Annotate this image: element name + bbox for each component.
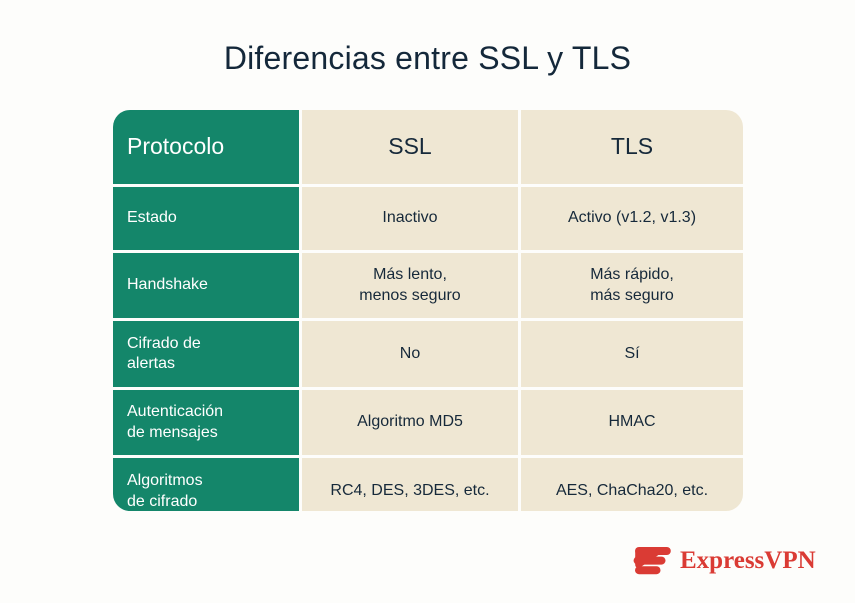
comparison-table: Protocolo SSL TLS Estado Inactivo Activo… (113, 110, 743, 511)
expressvpn-e-mark-icon (633, 545, 671, 577)
row-ssl-cell: RC4, DES, 3DES, etc. (302, 458, 518, 511)
row-tls-cell: Sí (521, 321, 743, 387)
row-tls-line1: Sí (624, 344, 639, 364)
row-ssl-line2: menos seguro (359, 286, 460, 306)
table-header-tls-text: TLS (611, 132, 653, 161)
row-tls-cell: HMAC (521, 390, 743, 455)
row-ssl-cell: No (302, 321, 518, 387)
row-ssl-cell: Más lento, menos seguro (302, 253, 518, 318)
table-row: Handshake Más lento, menos seguro Más rá… (113, 253, 743, 318)
row-label-line1: Algoritmos (127, 471, 203, 491)
row-label-line1: Estado (127, 208, 177, 228)
row-ssl-line1: Inactivo (382, 208, 437, 228)
row-tls-line2: más seguro (590, 286, 674, 306)
row-ssl-line1: Más lento, (359, 265, 460, 285)
row-label-line2: de mensajes (127, 423, 223, 443)
row-label-cell: Cifrado de alertas (113, 321, 299, 387)
row-label-line1: Autenticación (127, 402, 223, 422)
row-ssl-cell: Algoritmo MD5 (302, 390, 518, 455)
brand-logo: ExpressVPN (633, 543, 816, 579)
page-title: Diferencias entre SSL y TLS (0, 40, 855, 77)
table-header-label-text: Protocolo (127, 132, 224, 161)
row-label-line2: de cifrado (127, 492, 203, 512)
row-tls-line1: HMAC (608, 412, 655, 432)
table-header-row: Protocolo SSL TLS (113, 110, 743, 184)
row-tls-cell: Activo (v1.2, v1.3) (521, 187, 743, 250)
row-tls-cell: Más rápido, más seguro (521, 253, 743, 318)
row-label-cell: Algoritmos de cifrado (113, 458, 299, 511)
row-tls-line1: AES, ChaCha20, etc. (556, 481, 708, 501)
row-label-cell: Estado (113, 187, 299, 250)
table-header-label-cell: Protocolo (113, 110, 299, 184)
table-header-ssl-cell: SSL (302, 110, 518, 184)
row-label-line1: Cifrado de (127, 334, 201, 354)
row-ssl-cell: Inactivo (302, 187, 518, 250)
row-ssl-line1: No (400, 344, 420, 364)
table-row: Algoritmos de cifrado RC4, DES, 3DES, et… (113, 458, 743, 511)
table-row: Estado Inactivo Activo (v1.2, v1.3) (113, 187, 743, 250)
table-row: Autenticación de mensajes Algoritmo MD5 … (113, 390, 743, 455)
table-header-tls-cell: TLS (521, 110, 743, 184)
table-row: Cifrado de alertas No Sí (113, 321, 743, 387)
row-label-cell: Handshake (113, 253, 299, 318)
table-header-ssl-text: SSL (388, 132, 431, 161)
row-label-line2: alertas (127, 354, 201, 374)
brand-wordmark: ExpressVPN (680, 547, 816, 575)
row-tls-cell: AES, ChaCha20, etc. (521, 458, 743, 511)
row-tls-line1: Activo (v1.2, v1.3) (568, 208, 696, 228)
row-ssl-line1: RC4, DES, 3DES, etc. (330, 481, 489, 501)
row-label-line1: Handshake (127, 275, 208, 295)
row-ssl-line1: Algoritmo MD5 (357, 412, 463, 432)
row-label-cell: Autenticación de mensajes (113, 390, 299, 455)
row-tls-line1: Más rápido, (590, 265, 674, 285)
